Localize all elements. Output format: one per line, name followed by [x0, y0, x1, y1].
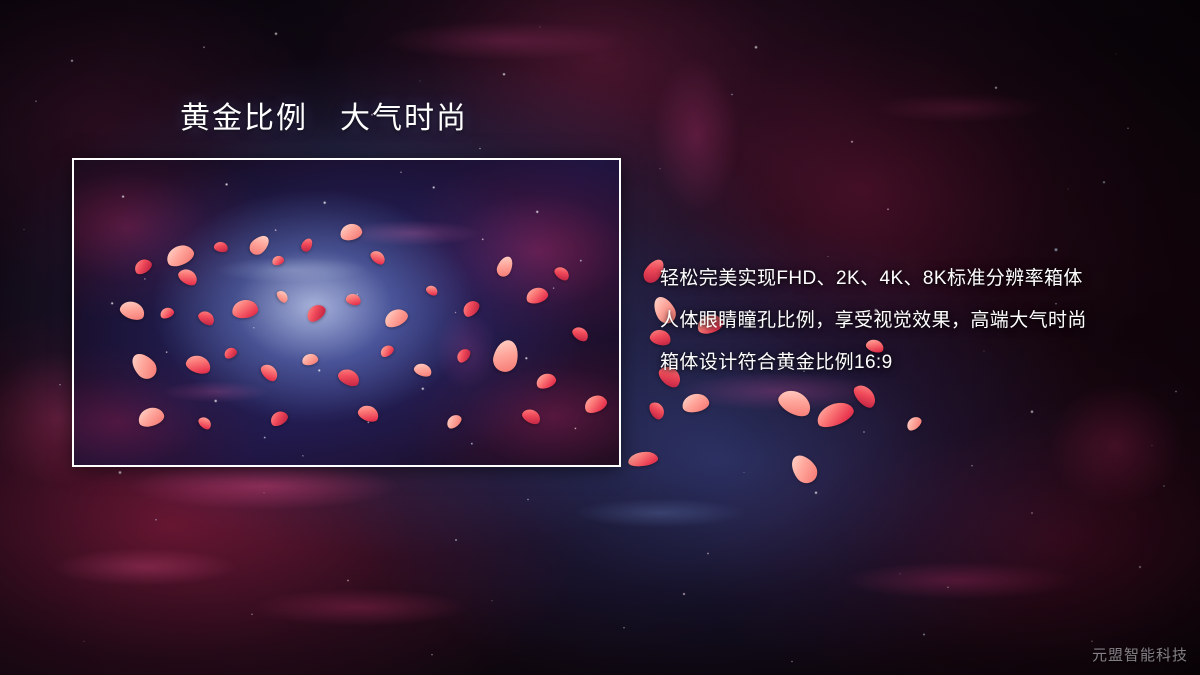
body-line-2: 人体眼睛瞳孔比例，享受视觉效果，高端大气时尚 [660, 300, 1160, 342]
body-line-1: 轻松完美实现FHD、2K、4K、8K标准分辨率箱体 [660, 258, 1160, 300]
watermark: 元盟智能科技 [1092, 644, 1188, 665]
page-title: 黄金比例 大气时尚 [180, 102, 468, 136]
body-copy: 轻松完美实现FHD、2K、4K、8K标准分辨率箱体 人体眼睛瞳孔比例，享受视觉效… [660, 258, 1160, 384]
slide-canvas: 黄金比例 大气时尚 [0, 0, 1200, 675]
body-line-3: 箱体设计符合黄金比例16:9 [660, 342, 1160, 384]
picture-frame [72, 158, 621, 467]
